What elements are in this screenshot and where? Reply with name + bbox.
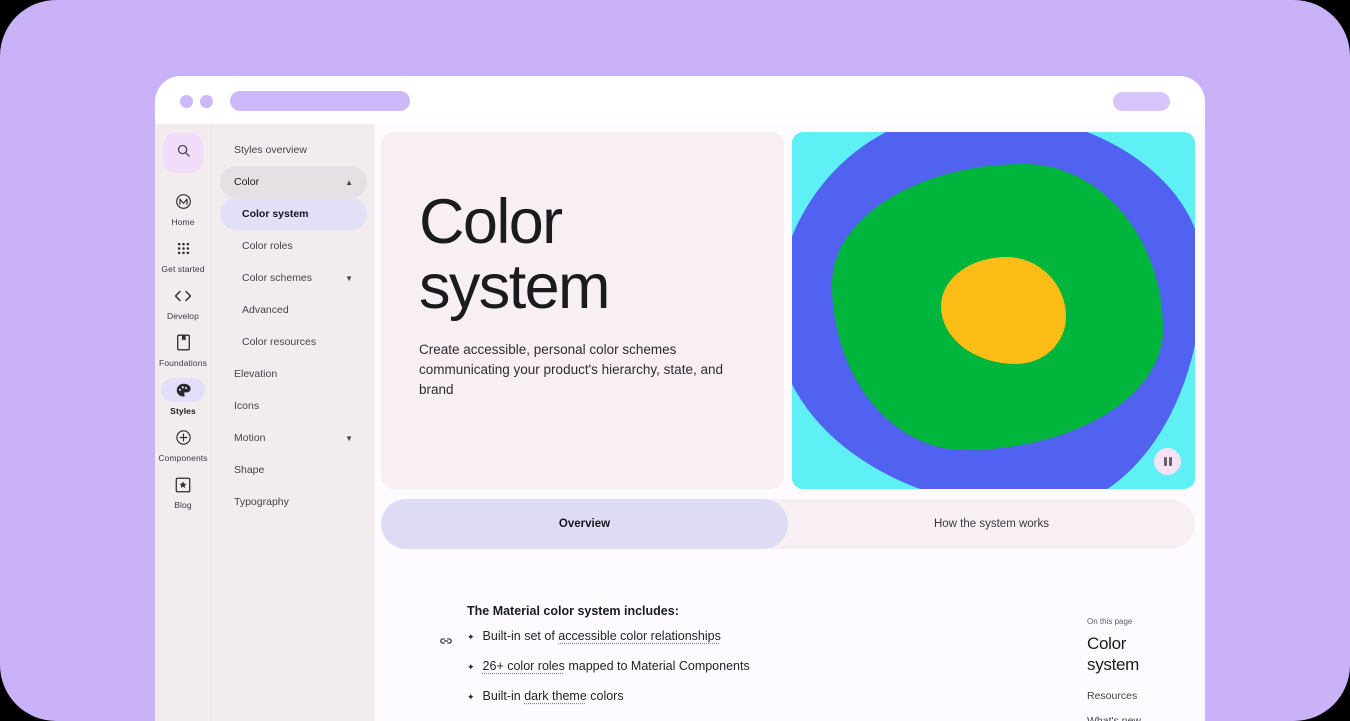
nav-item-motion[interactable]: Motion ▼ bbox=[220, 422, 367, 454]
rail-item-develop[interactable]: Develop bbox=[155, 284, 212, 321]
tab-overview[interactable]: Overview bbox=[381, 499, 788, 549]
chrome-action-button[interactable] bbox=[1113, 92, 1170, 111]
app-body: Home Get started bbox=[155, 124, 1205, 721]
toc-link-whats-new[interactable]: What's new bbox=[1087, 715, 1187, 721]
nav-label: Color system bbox=[242, 208, 309, 220]
nav-label: Motion bbox=[234, 432, 266, 444]
nav-label: Elevation bbox=[234, 368, 277, 380]
star-square-icon bbox=[163, 473, 203, 496]
nav-item-advanced[interactable]: Advanced bbox=[220, 294, 367, 326]
bullet-link[interactable]: 26+ color roles bbox=[483, 659, 565, 673]
code-brackets-icon bbox=[163, 284, 203, 307]
on-this-page: On this page Color system Resources What… bbox=[1087, 617, 1187, 721]
list-item-text: Built-in dark theme colors bbox=[483, 689, 624, 703]
toc-link-resources[interactable]: Resources bbox=[1087, 690, 1187, 702]
tab-how-the-system-works[interactable]: How the system works bbox=[788, 499, 1195, 549]
rail-item-components[interactable]: Components bbox=[155, 426, 212, 463]
pause-button[interactable] bbox=[1154, 448, 1181, 475]
article-body: The Material color system includes: ✦ Bu… bbox=[467, 604, 1027, 719]
rail-item-foundations[interactable]: Foundations bbox=[155, 331, 212, 368]
toc-title-line1: Color bbox=[1087, 634, 1126, 653]
bullet-prefix: Built-in set of bbox=[483, 629, 559, 643]
nav-label: Color bbox=[234, 176, 259, 188]
rail-item-get-started[interactable]: Get started bbox=[155, 237, 212, 274]
rail-label: Blog bbox=[174, 500, 191, 510]
rail-label: Home bbox=[171, 217, 194, 227]
bullet-link[interactable]: accessible color relationships bbox=[558, 629, 721, 643]
rail-label: Styles bbox=[170, 406, 196, 416]
rail-item-blog[interactable]: Blog bbox=[155, 473, 212, 510]
palette-icon bbox=[161, 378, 205, 402]
nav-label: Advanced bbox=[242, 304, 289, 316]
nav-label: Icons bbox=[234, 400, 259, 412]
link-icon[interactable] bbox=[439, 634, 453, 653]
rail-label: Get started bbox=[161, 264, 204, 274]
nav-item-color-resources[interactable]: Color resources bbox=[220, 326, 367, 358]
page-subtitle: Create accessible, personal color scheme… bbox=[419, 340, 739, 400]
article-heading: The Material color system includes: bbox=[467, 604, 1027, 618]
tab-label: Overview bbox=[559, 518, 610, 530]
nav-item-icons[interactable]: Icons bbox=[220, 390, 367, 422]
nav-item-color[interactable]: Color ▲ bbox=[220, 166, 367, 198]
bullet-suffix: mapped to Material Components bbox=[565, 659, 750, 673]
nav-item-styles-overview[interactable]: Styles overview bbox=[220, 134, 367, 166]
browser-chrome bbox=[155, 76, 1205, 124]
nav-item-color-system[interactable]: Color system bbox=[220, 198, 367, 230]
primary-nav-rail: Home Get started bbox=[155, 124, 212, 721]
nav-item-typography[interactable]: Typography bbox=[220, 486, 367, 518]
hero-media bbox=[792, 132, 1195, 489]
window-dot-2[interactable] bbox=[200, 95, 213, 108]
sparkle-bullet-icon: ✦ bbox=[467, 659, 475, 675]
toc-title: Color system bbox=[1087, 633, 1187, 676]
list-item: ✦ Built-in set of accessible color relat… bbox=[467, 629, 1027, 645]
rail-label: Components bbox=[158, 453, 207, 463]
list-item: ✦ 26+ color roles mapped to Material Com… bbox=[467, 659, 1027, 675]
bullet-prefix: Built-in bbox=[483, 689, 525, 703]
rail-label: Develop bbox=[167, 311, 199, 321]
search-icon bbox=[176, 143, 191, 163]
chevron-up-icon: ▲ bbox=[345, 178, 353, 187]
nav-label: Color schemes bbox=[242, 272, 312, 284]
pause-icon bbox=[1164, 457, 1172, 466]
page-stage: Home Get started bbox=[0, 0, 1350, 721]
article-section: The Material color system includes: ✦ Bu… bbox=[375, 604, 1205, 719]
nav-label: Styles overview bbox=[234, 144, 307, 156]
browser-window: Home Get started bbox=[155, 76, 1205, 721]
sparkle-bullet-icon: ✦ bbox=[467, 689, 475, 705]
address-bar[interactable] bbox=[230, 91, 410, 111]
main-content: Color system Create accessible, personal… bbox=[375, 124, 1205, 721]
nav-label: Color resources bbox=[242, 336, 316, 348]
page-title-line2: system bbox=[419, 252, 609, 322]
rail-item-home[interactable]: Home bbox=[155, 190, 212, 227]
hero-section: Color system Create accessible, personal… bbox=[375, 124, 1205, 489]
apps-grid-icon bbox=[163, 237, 203, 260]
page-title-line1: Color bbox=[419, 187, 562, 257]
bullet-link[interactable]: dark theme bbox=[524, 689, 587, 703]
window-dot-1[interactable] bbox=[180, 95, 193, 108]
nav-label: Typography bbox=[234, 496, 289, 508]
rail-label: Foundations bbox=[159, 358, 207, 368]
nav-item-shape[interactable]: Shape bbox=[220, 454, 367, 486]
hero-text-card: Color system Create accessible, personal… bbox=[381, 132, 784, 489]
toc-eyebrow: On this page bbox=[1087, 617, 1187, 626]
nav-item-color-schemes[interactable]: Color schemes ▼ bbox=[220, 262, 367, 294]
nav-item-elevation[interactable]: Elevation bbox=[220, 358, 367, 390]
toc-title-line2: system bbox=[1087, 655, 1139, 674]
nav-item-color-roles[interactable]: Color roles bbox=[220, 230, 367, 262]
list-item-text: Built-in set of accessible color relatio… bbox=[483, 629, 721, 643]
chevron-down-icon: ▼ bbox=[345, 274, 353, 283]
nav-label: Color roles bbox=[242, 240, 293, 252]
sparkle-bullet-icon: ✦ bbox=[467, 629, 475, 645]
bookmark-icon bbox=[163, 331, 203, 354]
content-tabs: Overview How the system works bbox=[381, 499, 1195, 549]
plus-circle-icon bbox=[163, 426, 203, 449]
bullet-suffix: colors bbox=[587, 689, 624, 703]
list-item-text: 26+ color roles mapped to Material Compo… bbox=[483, 659, 750, 673]
search-button[interactable] bbox=[163, 133, 203, 173]
tab-label: How the system works bbox=[934, 518, 1049, 530]
rail-item-styles[interactable]: Styles bbox=[155, 378, 212, 416]
chevron-down-icon: ▼ bbox=[345, 434, 353, 443]
nav-label: Shape bbox=[234, 464, 264, 476]
list-item: ✦ Built-in dark theme colors bbox=[467, 689, 1027, 705]
material-logo-icon bbox=[163, 190, 203, 213]
secondary-nav: Styles overview Color ▲ Color system Col… bbox=[212, 124, 375, 721]
page-title: Color system bbox=[419, 190, 746, 320]
